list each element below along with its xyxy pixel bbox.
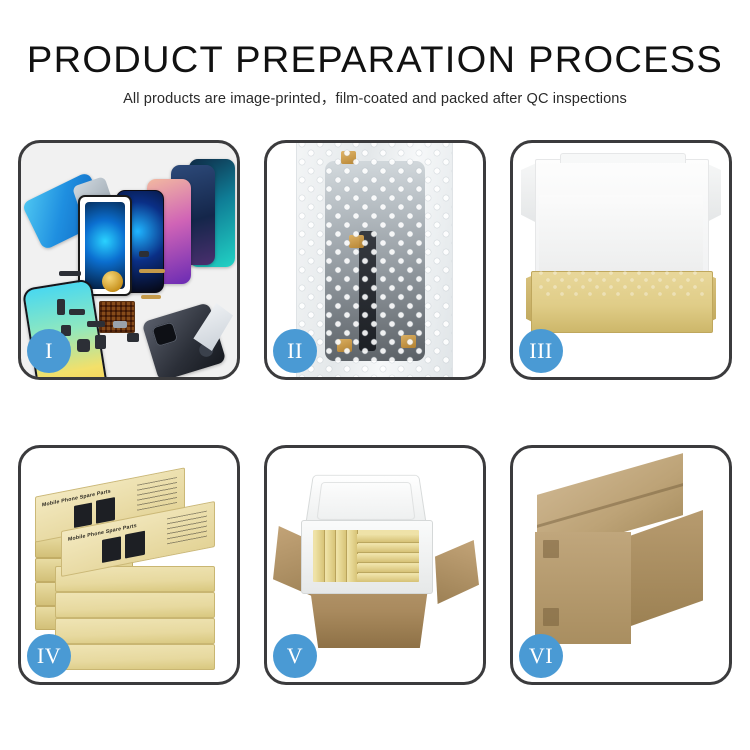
spare-part-antenna (87, 321, 105, 327)
retail-box-spec-lines (167, 511, 207, 545)
step-badge-4: IV (27, 634, 71, 678)
carton-tape-lower (543, 608, 559, 626)
spare-part-connector (57, 299, 65, 315)
packed-box-edge (337, 530, 347, 582)
step-panel-4: Mobile Phone Spare Parts Mobile Phone Sp… (18, 445, 240, 685)
step-panel-1: I (18, 140, 240, 380)
step-badge-6: VI (519, 634, 563, 678)
retail-box-window (96, 497, 115, 524)
spare-part-flex-cable (141, 295, 161, 299)
spare-part-flex-cable (139, 269, 165, 273)
spare-part-clip (139, 251, 149, 257)
bubble-wrap-bag (296, 143, 453, 377)
retail-box-front (55, 618, 215, 644)
spare-part-motor (127, 333, 139, 342)
retail-box-front (55, 592, 215, 618)
carton-tape-upper (543, 540, 559, 558)
step-panel-3: III (510, 140, 732, 380)
retail-box-window (125, 531, 145, 559)
spare-part-camera (77, 339, 90, 352)
packed-box-edge (315, 530, 325, 582)
packed-box-edge (326, 530, 336, 582)
spare-part-strip (59, 271, 81, 276)
packed-retail-boxes (313, 530, 419, 582)
spare-part-shield (113, 321, 127, 328)
white-foam-sheet (539, 195, 703, 277)
packed-box-face (357, 544, 419, 553)
retail-box-spec-lines (137, 477, 177, 511)
carton-side-face (631, 510, 703, 626)
step-panel-6: VI (510, 445, 732, 685)
dark-bubble-wrap-layer (537, 269, 705, 299)
product-preparation-process-image: PRODUCT PREPARATION PROCESS All products… (0, 0, 750, 750)
spare-part-module (95, 335, 106, 349)
retail-box-front (55, 644, 215, 670)
retail-box-window (74, 502, 92, 527)
header: PRODUCT PREPARATION PROCESS All products… (0, 0, 750, 108)
process-step-grid: I II (18, 140, 732, 690)
step-panel-2: II (264, 140, 486, 380)
step-panel-5: V (264, 445, 486, 685)
carton-flap-right (435, 540, 479, 604)
packed-box-face (357, 534, 419, 543)
packed-box-face (357, 564, 419, 573)
step-badge-3: III (519, 329, 563, 373)
page-subtitle: All products are image-printed，film-coat… (0, 80, 750, 108)
logic-board-chip (99, 301, 135, 333)
packed-box-face (357, 554, 419, 563)
packed-box-face (357, 574, 419, 582)
speaker-module-icon (102, 271, 123, 292)
step-badge-5: V (273, 634, 317, 678)
step-badge-2: II (273, 329, 317, 373)
bubble-texture (297, 143, 452, 377)
page-title: PRODUCT PREPARATION PROCESS (0, 0, 750, 80)
spare-part-bracket (69, 309, 85, 315)
retail-box-window (102, 536, 121, 563)
step-badge-1: I (27, 329, 71, 373)
